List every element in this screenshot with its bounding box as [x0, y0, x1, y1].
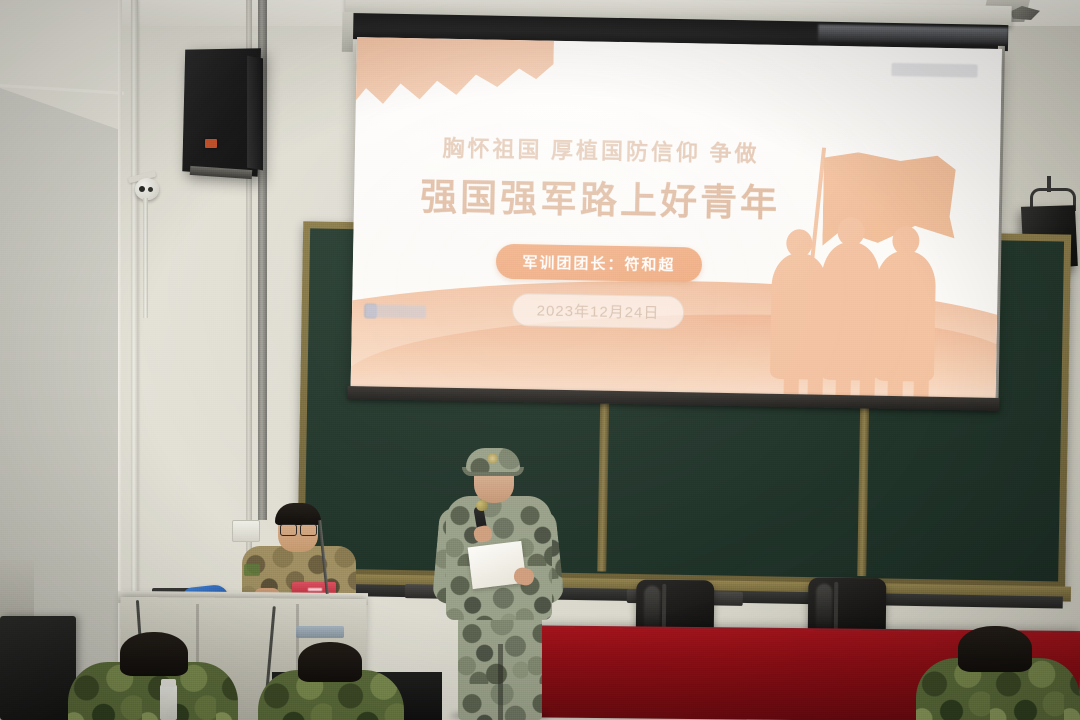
photograph-lecture-hall: 胸怀祖国 厚植国防信仰 争做 强国强军路上好青年 军训团团长：符和超 2023年… [0, 0, 1080, 720]
camera-lens-secondary [148, 187, 153, 192]
person-standing-speaker [432, 448, 564, 720]
slide-decoration-top-wave [351, 37, 555, 121]
projection-screen-surface: 胸怀祖国 厚植国防信仰 争做 强国强军路上好青年 军训团团长：符和超 2023年… [351, 37, 1002, 401]
chair-highlight [816, 584, 833, 634]
slide-speaker-badge: 军训团团长：符和超 [496, 244, 702, 283]
soldier-silhouette [820, 242, 881, 381]
projection-screen-end-cap [342, 12, 354, 52]
speaker-brand-logo-icon [205, 139, 217, 148]
camera-lens [139, 186, 145, 192]
slide-text-block: 胸怀祖国 厚植国防信仰 争做 强国强军路上好青年 军训团团长：符和超 2023年… [398, 130, 801, 331]
slide-date-pill: 2023年12月24日 [511, 293, 684, 329]
security-camera-icon [135, 178, 159, 200]
wall-speaker-left-side [247, 56, 263, 171]
audience-member [258, 648, 404, 720]
audience-member [916, 626, 1080, 720]
uniform-shoulder-patch [244, 564, 260, 576]
slide-watermark-top-right [891, 63, 977, 78]
audience-head [298, 642, 362, 682]
soldier-head [837, 217, 865, 246]
projection-screen-assembly: 胸怀祖国 厚植国防信仰 争做 强国强军路上好青年 军训团团长：符和超 2023年… [341, 0, 1009, 416]
lectern-label-plate [296, 626, 344, 638]
slide-subheading: 胸怀祖国 厚植国防信仰 争做 [401, 130, 802, 169]
audience-member [68, 636, 238, 720]
seated-person-hair [275, 503, 321, 525]
housing-reflection [818, 25, 1008, 45]
camera-stem [143, 198, 148, 318]
monitor-left [0, 616, 76, 720]
slide-watermark-bottom-left [366, 304, 426, 318]
water-bottle [160, 684, 177, 720]
speaker-leg-separation [498, 644, 503, 720]
cap-badge-icon [487, 453, 498, 464]
audience-head [958, 626, 1032, 672]
presentation-slide: 胸怀祖国 厚植国防信仰 争做 强国强军路上好青年 军训团团长：符和超 2023年… [351, 37, 1002, 401]
eyeglasses-icon [280, 524, 317, 534]
water-bottle-cap [161, 679, 176, 687]
slide-heading: 强国强军路上好青年 [400, 166, 801, 227]
soldier-silhouette [874, 251, 936, 382]
soldier-head [892, 226, 920, 255]
audience-head [120, 632, 188, 676]
